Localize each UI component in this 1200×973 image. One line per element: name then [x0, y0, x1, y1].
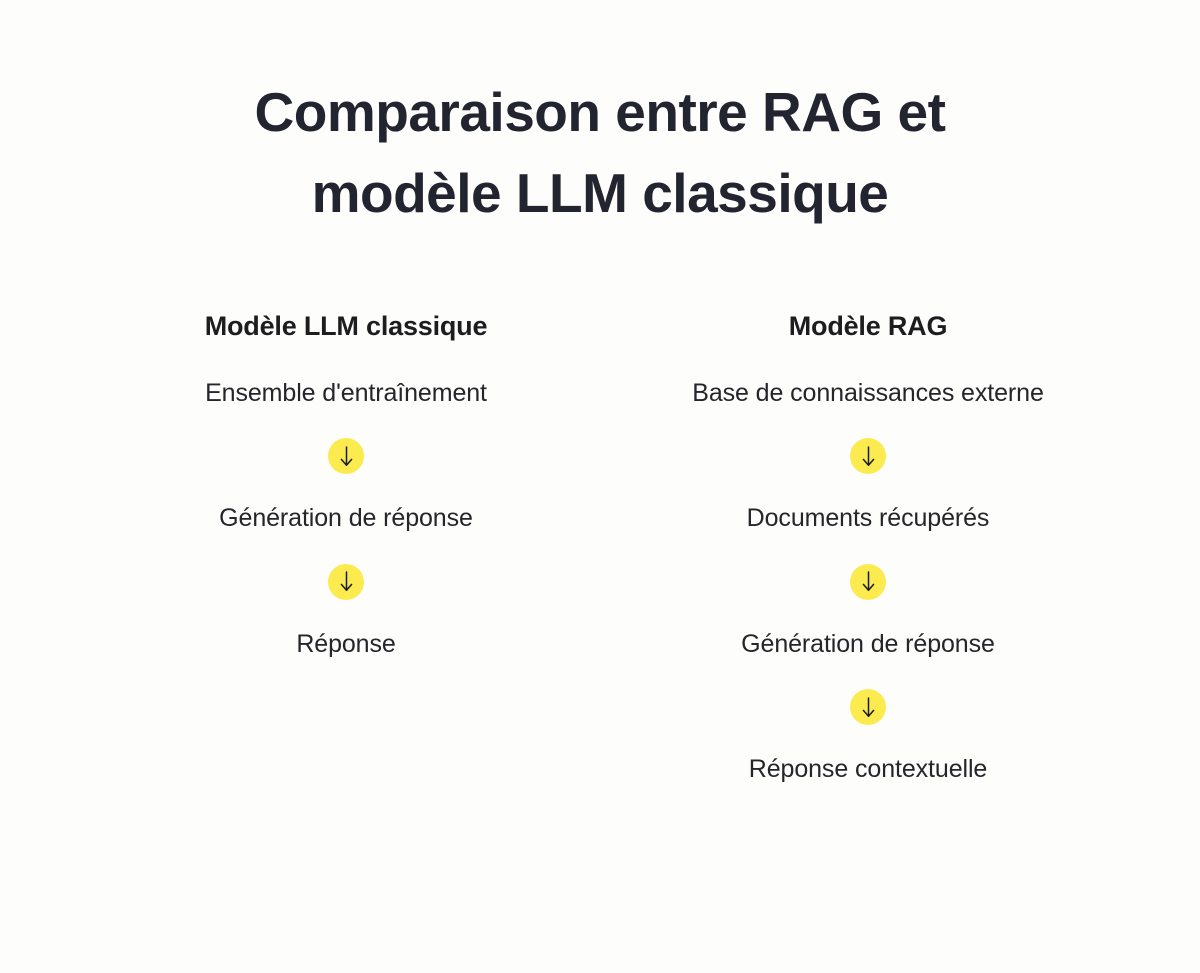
arrow-down-icon	[328, 564, 364, 600]
column-heading-classic-llm: Modèle LLM classique	[205, 311, 488, 342]
column-heading-rag-model: Modèle RAG	[789, 311, 948, 342]
flow-step: Réponse contextuelle	[749, 753, 987, 786]
arrow-down-icon	[850, 564, 886, 600]
column-classic-llm: Modèle LLM classique Ensemble d'entraîne…	[116, 311, 576, 661]
arrow-down-icon	[328, 438, 364, 474]
column-rag-model: Modèle RAG Base de connaissances externe…	[638, 311, 1098, 786]
page-title-block: Comparaison entre RAG et modèle LLM clas…	[0, 72, 1200, 235]
page-title-line-1: Comparaison entre RAG et	[255, 81, 946, 143]
flow-step: Base de connaissances externe	[692, 377, 1044, 410]
flow-classic-llm: Ensemble d'entraînement Génération de ré…	[205, 377, 487, 661]
flow-step: Génération de réponse	[741, 628, 995, 661]
flow-step: Documents récupérés	[747, 502, 990, 535]
arrow-down-icon	[850, 438, 886, 474]
flow-step: Génération de réponse	[219, 502, 473, 535]
flow-step: Réponse	[296, 628, 395, 661]
page-title: Comparaison entre RAG et modèle LLM clas…	[190, 72, 1010, 235]
comparison-diagram: Comparaison entre RAG et modèle LLM clas…	[0, 0, 1200, 973]
flow-rag-model: Base de connaissances externe Documents …	[692, 377, 1044, 786]
arrow-down-icon	[850, 689, 886, 725]
page-title-line-2: modèle LLM classique	[312, 162, 889, 224]
flow-step: Ensemble d'entraînement	[205, 377, 487, 410]
columns-container: Modèle LLM classique Ensemble d'entraîne…	[0, 311, 1200, 786]
